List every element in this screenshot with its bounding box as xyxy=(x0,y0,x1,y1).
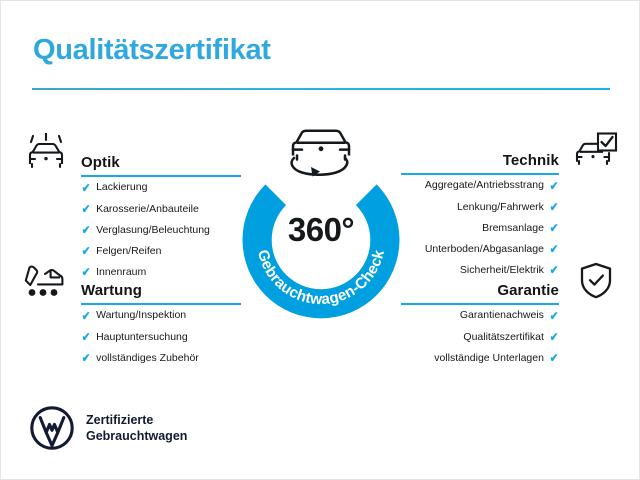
list-item: Bremsanlage✔ xyxy=(395,217,621,238)
footer-text: Zertifizierte Gebrauchtwagen xyxy=(86,412,187,445)
check-icon: ✔ xyxy=(82,245,91,257)
footer-brand: Zertifizierte Gebrauchtwagen xyxy=(30,406,187,450)
title-divider xyxy=(32,88,610,90)
section-technik-title: Technik xyxy=(503,152,559,169)
section-garantie: Garantie Garantienachweis✔ Qualitätszert… xyxy=(395,259,621,369)
section-wartung: Wartung ✔Wartung/Inspektion ✔Hauptunters… xyxy=(21,259,247,369)
check-icon: ✔ xyxy=(550,222,559,234)
list-item-label: Lackierung xyxy=(96,182,147,193)
section-technik-divider xyxy=(401,173,559,175)
list-item: ✔Hauptuntersuchung xyxy=(81,326,247,347)
section-garantie-header: Garantie xyxy=(395,259,621,305)
list-item-label: Aggregate/Antriebsstrang xyxy=(425,180,544,191)
list-item: ✔vollständiges Zubehör xyxy=(81,347,247,368)
list-item: Unterboden/Abgasanlage✔ xyxy=(395,239,621,260)
car-service-pen-icon xyxy=(23,261,69,301)
list-item-label: Qualitätszertifikat xyxy=(463,332,544,343)
check-icon: ✔ xyxy=(550,243,559,255)
footer-line-2: Gebrauchtwagen xyxy=(86,428,187,445)
list-item-label: Unterboden/Abgasanlage xyxy=(425,244,544,255)
shield-check-icon xyxy=(573,261,619,301)
list-item-label: Verglasung/Beleuchtung xyxy=(96,225,210,236)
section-garantie-title: Garantie xyxy=(497,282,559,299)
check-icon: ✔ xyxy=(82,182,91,194)
section-wartung-list: ✔Wartung/Inspektion ✔Hauptuntersuchung ✔… xyxy=(21,305,247,369)
list-item: vollständige Unterlagen✔ xyxy=(395,347,621,368)
list-item-label: Garantienachweis xyxy=(460,310,544,321)
section-technik-header: Technik xyxy=(395,129,621,175)
section-optik-divider xyxy=(81,175,241,177)
list-item: ✔Wartung/Inspektion xyxy=(81,305,247,326)
check-icon: ✔ xyxy=(550,331,559,343)
list-item: ✔Verglasung/Beleuchtung xyxy=(81,219,247,240)
section-garantie-divider xyxy=(401,303,559,305)
list-item: Aggregate/Antriebsstrang✔ xyxy=(395,175,621,196)
list-item: Garantienachweis✔ xyxy=(395,305,621,326)
list-item-label: vollständiges Zubehör xyxy=(96,353,199,364)
section-wartung-header: Wartung xyxy=(21,259,247,305)
footer-line-1: Zertifizierte xyxy=(86,412,187,429)
check-icon: ✔ xyxy=(82,352,91,364)
list-item-label: vollständige Unterlagen xyxy=(434,353,544,364)
check-icon: ✔ xyxy=(550,310,559,322)
list-item-label: Hauptuntersuchung xyxy=(96,332,188,343)
car-rotate-icon xyxy=(283,120,359,182)
check-icon: ✔ xyxy=(82,224,91,236)
list-item-label: Lenkung/Fahrwerk xyxy=(457,202,544,213)
list-item-label: Wartung/Inspektion xyxy=(96,310,186,321)
section-wartung-title: Wartung xyxy=(81,282,142,299)
check-icon: ✔ xyxy=(550,180,559,192)
section-optik-title: Optik xyxy=(81,154,120,171)
list-item: Lenkung/Fahrwerk✔ xyxy=(395,196,621,217)
check-icon: ✔ xyxy=(550,352,559,364)
car-shine-icon xyxy=(23,133,69,173)
check-icon: ✔ xyxy=(82,310,91,322)
vw-logo xyxy=(30,406,74,450)
list-item: ✔Lackierung xyxy=(81,177,247,198)
check-icon: ✔ xyxy=(82,203,91,215)
list-item: ✔Karosserie/Anbauteile xyxy=(81,198,247,219)
page-title: Qualitätszertifikat xyxy=(33,34,271,67)
section-optik-header: Optik xyxy=(21,131,247,177)
car-checkbox-icon xyxy=(573,131,619,171)
list-item-label: Felgen/Reifen xyxy=(96,246,161,257)
list-item-label: Bremsanlage xyxy=(482,223,544,234)
list-item-label: Karosserie/Anbauteile xyxy=(96,204,199,215)
check-icon: ✔ xyxy=(82,331,91,343)
section-wartung-divider xyxy=(81,303,241,305)
list-item: Qualitätszertifikat✔ xyxy=(395,326,621,347)
certificate-page: Qualitätszertifikat Optik xyxy=(0,0,640,480)
section-garantie-list: Garantienachweis✔ Qualitätszertifikat✔ v… xyxy=(395,305,621,369)
check-icon: ✔ xyxy=(550,201,559,213)
